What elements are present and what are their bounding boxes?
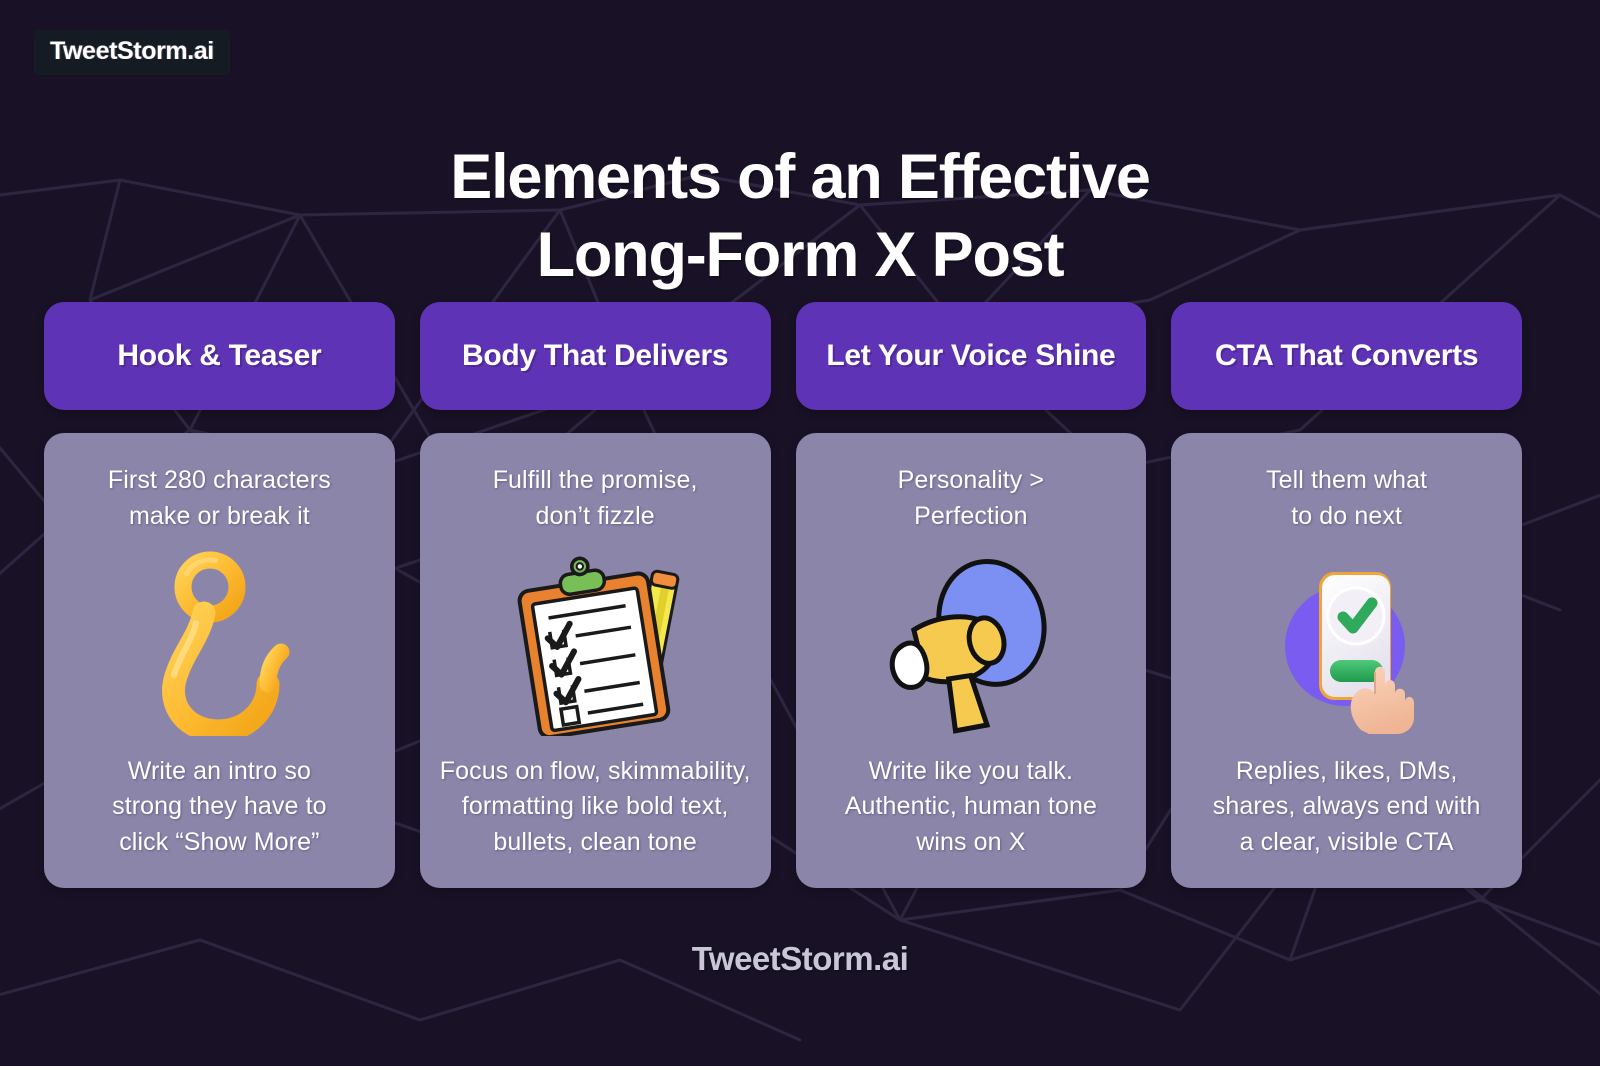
card-header-label: Body That Delivers [450,336,740,376]
infographic-canvas: TweetStorm.ai Elements of an Effective L… [0,0,1600,1066]
card-bottom-text: Focus on flow, skimmability, formatting … [440,754,751,863]
footer-brand: TweetStorm.ai [0,940,1600,978]
card-body-body-delivers: Fulfill the promise, don’t fizzle [420,433,771,888]
card-voice-shine: Let Your Voice Shine Personality > Perfe… [796,302,1147,888]
hook-icon [144,551,294,736]
cards-row: Hook & Teaser First 280 characters make … [44,302,1522,888]
card-bottom-text: Replies, likes, DMs, shares, always end … [1213,754,1481,863]
card-body-that-delivers: Body That Delivers Fulfill the promise, … [420,302,771,888]
card-top-text: Tell them what to do next [1266,459,1427,534]
card-header-label: CTA That Converts [1203,336,1490,376]
brand-logo-text: TweetStorm.ai [50,37,214,65]
card-bottom-text: Write like you talk. Authentic, human to… [845,754,1097,863]
card-top-text: Fulfill the promise, don’t fizzle [493,459,698,534]
card-top-text: Personality > Perfection [898,459,1045,534]
card-body-cta-converts: Tell them what to do next [1171,433,1522,888]
card-body-hook-teaser: First 280 characters make or break it [44,433,395,888]
clipboard-checklist-icon [503,551,688,736]
card-icon-slot [60,534,379,754]
megaphone-icon [883,554,1058,734]
card-icon-slot [436,534,755,754]
card-cta-converts: CTA That Converts Tell them what to do n… [1171,302,1522,888]
card-icon-slot [812,534,1131,754]
footer-brand-text: TweetStorm.ai [692,940,909,977]
card-header-hook-teaser[interactable]: Hook & Teaser [44,302,395,410]
card-header-label: Hook & Teaser [105,336,333,376]
card-header-voice-shine[interactable]: Let Your Voice Shine [796,302,1147,410]
card-top-text: First 280 characters make or break it [108,459,331,534]
page-title-line-2: Long-Form X Post [0,216,1600,294]
card-body-voice-shine: Personality > Perfection [796,433,1147,888]
page-title: Elements of an Effective Long-Form X Pos… [0,138,1600,294]
card-header-label: Let Your Voice Shine [814,336,1127,376]
card-header-body-delivers[interactable]: Body That Delivers [420,302,771,410]
card-bottom-text: Write an intro so strong they have to cl… [112,754,327,863]
card-hook-teaser: Hook & Teaser First 280 characters make … [44,302,395,888]
brand-logo-badge[interactable]: TweetStorm.ai [34,30,230,75]
page-title-line-1: Elements of an Effective [0,138,1600,216]
phone-tap-check-icon [1257,554,1437,734]
card-header-cta-converts[interactable]: CTA That Converts [1171,302,1522,410]
card-icon-slot [1187,534,1506,754]
